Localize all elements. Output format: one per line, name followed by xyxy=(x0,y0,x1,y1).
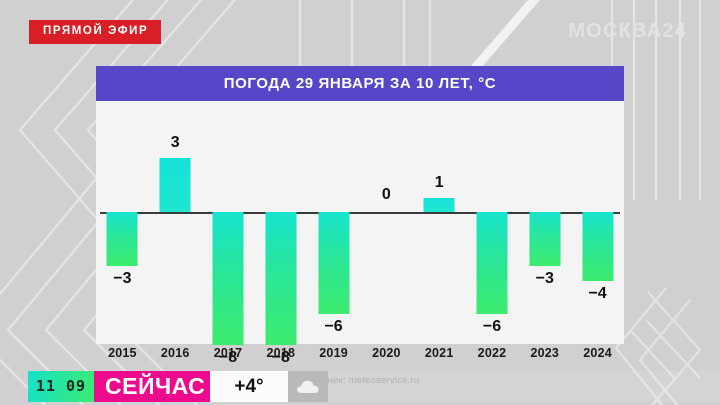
x-tick-2015: 2015 xyxy=(96,346,149,360)
bar-label-2023: −3 xyxy=(536,271,554,287)
x-tick-2017: 2017 xyxy=(202,346,255,360)
bottom-ticker: 11 09 СЕЙЧАС +4° xyxy=(0,371,720,405)
bar-slot-2018: −8 xyxy=(254,101,307,316)
bar-slot-2017: −8 xyxy=(202,101,255,316)
bar-slot-2019: −6 xyxy=(307,101,360,316)
bar-2018 xyxy=(265,212,296,345)
x-tick-2018: 2018 xyxy=(254,346,307,360)
bar-series: −3 3 −8 −8 −6 0 xyxy=(96,101,624,316)
channel-logo: МОСКВА24 xyxy=(568,21,687,41)
bar-2016 xyxy=(160,158,191,212)
bar-slot-2015: −3 xyxy=(96,101,149,316)
clock-box: 11 09 xyxy=(28,371,94,402)
bar-slot-2023: −3 xyxy=(518,101,571,316)
bar-2023 xyxy=(529,212,560,266)
x-tick-2019: 2019 xyxy=(307,346,360,360)
bar-label-2015: −3 xyxy=(113,271,131,287)
bar-slot-2016: 3 xyxy=(149,101,202,316)
x-tick-2021: 2021 xyxy=(413,346,466,360)
chart-plot-area: −3 3 −8 −8 −6 0 xyxy=(96,101,624,344)
x-tick-2016: 2016 xyxy=(149,346,202,360)
ticker-background-strip xyxy=(328,371,720,402)
bar-2022 xyxy=(476,212,507,314)
chart-title: ПОГОДА 29 ЯНВАРЯ ЗА 10 ЛЕТ, °C xyxy=(96,66,624,101)
cloud-icon-glyph xyxy=(296,379,320,394)
current-temperature: +4° xyxy=(210,371,288,402)
now-label: СЕЙЧАС xyxy=(94,371,215,402)
bar-2019 xyxy=(318,212,349,314)
bar-slot-2024: −4 xyxy=(571,101,624,316)
bar-slot-2020: 0 xyxy=(360,101,413,316)
bar-label-2016: 3 xyxy=(171,135,180,151)
bar-label-2020: 0 xyxy=(382,187,391,203)
bar-2021 xyxy=(424,198,455,212)
x-axis-labels: 2015 2016 2017 2018 2019 2020 2021 2022 … xyxy=(96,346,624,360)
x-tick-2024: 2024 xyxy=(571,346,624,360)
chart-card: ПОГОДА 29 ЯНВАРЯ ЗА 10 ЛЕТ, °C −3 3 −8 xyxy=(96,66,624,344)
clock-time: 11 09 xyxy=(36,379,86,394)
x-tick-2020: 2020 xyxy=(360,346,413,360)
live-badge: ПРЯМОЙ ЭФИР xyxy=(29,20,161,44)
broadcast-screen: ПРЯМОЙ ЭФИР МОСКВА24 ПОГОДА 29 ЯНВАРЯ ЗА… xyxy=(0,0,720,405)
bar-label-2019: −6 xyxy=(324,319,342,335)
bar-2024 xyxy=(582,212,613,281)
bar-2017 xyxy=(212,212,243,345)
bar-slot-2022: −6 xyxy=(466,101,519,316)
x-tick-2022: 2022 xyxy=(466,346,519,360)
cloud-icon xyxy=(288,371,328,402)
bar-label-2024: −4 xyxy=(588,286,606,302)
bar-label-2022: −6 xyxy=(483,319,501,335)
x-tick-2023: 2023 xyxy=(518,346,571,360)
bar-label-2021: 1 xyxy=(435,175,444,191)
bar-slot-2021: 1 xyxy=(413,101,466,316)
bar-2015 xyxy=(107,212,138,266)
